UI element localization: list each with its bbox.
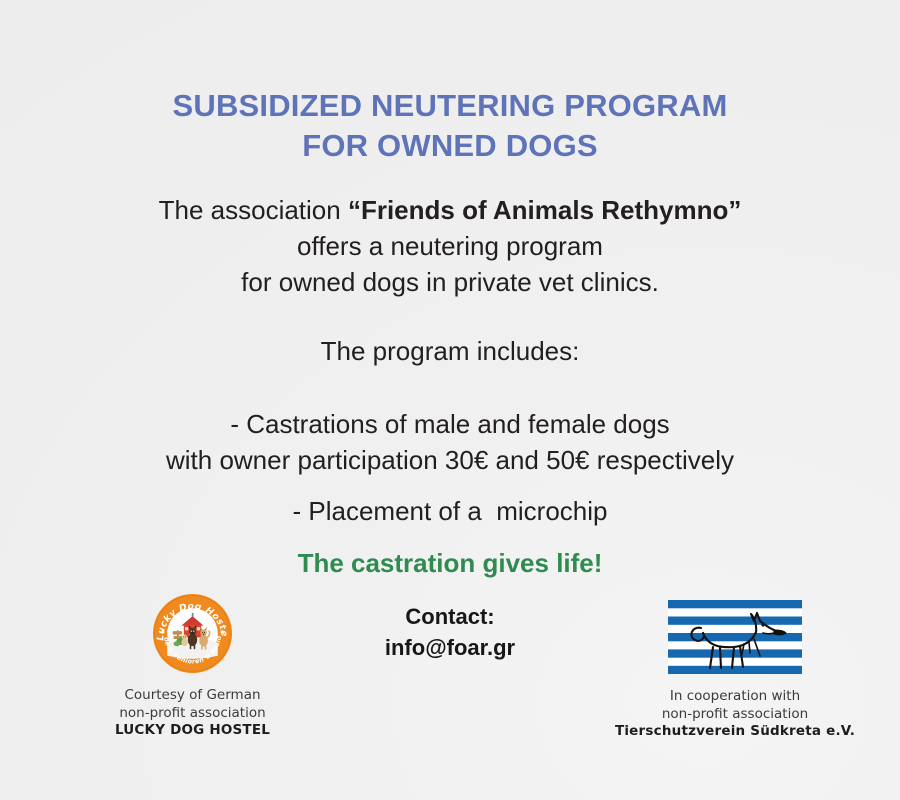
poster-canvas: SUBSIDIZED NEUTERING PROGRAM FOR OWNED D… [0,0,900,800]
small-dog [181,635,187,647]
program-includes-heading: The program includes: [0,333,900,369]
intro-line-3: for owned dogs in private vet clinics. [0,264,900,300]
partner-right-caption-line-2: non-profit association [590,706,880,724]
intro-line-2: offers a neutering program [0,228,900,264]
contact-label: Contact: [330,601,570,632]
tierschutzverein-suedkreta-logo-graphic [668,600,802,674]
partner-right-caption-line-1: In cooperation with [590,688,880,706]
program-items-castration: - Castrations of male and female dogs wi… [0,406,900,478]
intro-paragraph: The association “Friends of Animals Reth… [0,192,900,300]
program-item-castration: - Castrations of male and female dogs [0,406,900,442]
page-title-line-1: SUBSIDIZED NEUTERING PROGRAM [0,86,900,126]
partner-left: Lucky Dog Hostel Hunde ✿ Senioren ✿ Resi… [70,588,315,740]
partner-left-caption: Courtesy of German non-profit associatio… [70,687,315,740]
page-title-line-2: FOR OWNED DOGS [0,126,900,166]
lucky-dog-hostel-logo-graphic: Lucky Dog Hostel Hunde ✿ Senioren ✿ Resi… [153,594,232,673]
program-item-fees: with owner participation 30€ and 50€ res… [0,442,900,478]
footer-partners: Lucky Dog Hostel Hunde ✿ Senioren ✿ Resi… [0,588,900,788]
slogan: The castration gives life! [0,546,900,580]
intro-line-1: The association “Friends of Animals Reth… [0,192,900,228]
contact-email[interactable]: info@foar.gr [330,632,570,663]
contact-block: Contact: info@foar.gr [330,601,570,663]
tierschutzverein-suedkreta-logo [668,600,802,674]
partner-left-name: LUCKY DOG HOSTEL [70,722,315,740]
partner-left-caption-line-1: Courtesy of German [70,687,315,705]
association-name: “Friends of Animals Rethymno” [348,195,741,225]
partner-right-name: Tierschutzverein Südkreta e.V. [590,723,880,741]
partner-left-caption-line-2: non-profit association [70,705,315,723]
intro-line-1-prefix: The association [159,195,348,225]
page-title: SUBSIDIZED NEUTERING PROGRAM FOR OWNED D… [0,86,900,166]
program-includes-heading-text: The program includes: [0,333,900,369]
partner-right-caption: In cooperation with non-profit associati… [590,688,880,741]
partner-right: In cooperation with non-profit associati… [590,588,880,741]
program-items-microchip: - Placement of a microchip [0,493,900,529]
program-item-microchip: - Placement of a microchip [0,493,900,529]
lucky-dog-hostel-logo: Lucky Dog Hostel Hunde ✿ Senioren ✿ Resi… [153,594,232,673]
